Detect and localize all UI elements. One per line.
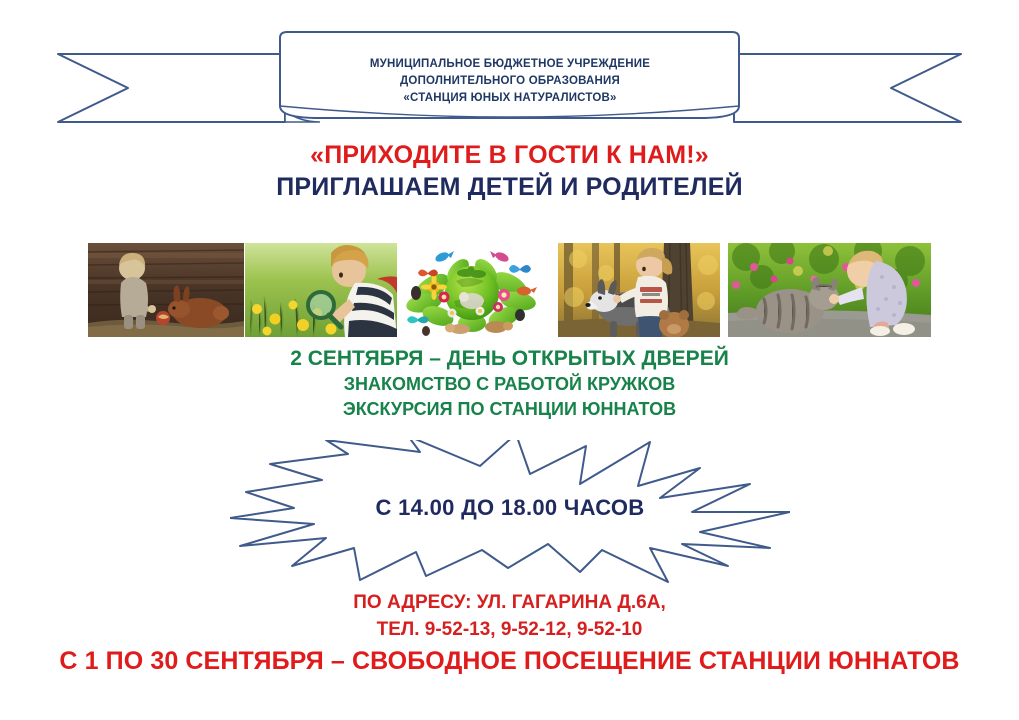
photo-girl-dog-art (558, 243, 720, 337)
photo-nature-collage (398, 243, 546, 337)
photo-child-cat-art (728, 243, 931, 337)
photo-girl-dog (558, 243, 720, 337)
headline-block: «ПРИХОДИТЕ В ГОСТИ К НАМ!» ПРИГЛАШАЕМ ДЕ… (0, 140, 1019, 203)
headline-invite-title: «ПРИХОДИТЕ В ГОСТИ К НАМ!» (0, 140, 1019, 171)
headline-invite-subtitle: ПРИГЛАШАЕМ ДЕТЕЙ И РОДИТЕЛЕЙ (0, 171, 1019, 203)
opening-hours-text: С 14.00 ДО 18.00 ЧАСОВ (230, 495, 790, 521)
address-line: ПО АДРЕСУ: УЛ. ГАГАРИНА Д.6А, (0, 590, 1019, 616)
clubs-intro-line: ЗНАКОМСТВО С РАБОТОЙ КРУЖКОВ (0, 372, 1019, 397)
photo-boy-magnifier-art (245, 243, 397, 337)
open-day-title: 2 СЕНТЯБРЯ – ДЕНЬ ОТКРЫТЫХ ДВЕРЕЙ (0, 345, 1019, 372)
banner-line-2: ДОПОЛНИТЕЛЬНОГО ОБРАЗОВАНИЯ (285, 73, 735, 90)
starburst-block: С 14.00 ДО 18.00 ЧАСОВ (230, 440, 790, 585)
photo-strip (88, 243, 931, 337)
organization-name: МУНИЦИПАЛЬНОЕ БЮДЖЕТНОЕ УЧРЕЖДЕНИЕ ДОПОЛ… (285, 56, 735, 107)
photo-child-rabbit-art (88, 243, 244, 337)
photo-child-rabbit (88, 243, 244, 337)
teddy-bear (659, 310, 689, 337)
ribbon-right-tail (734, 54, 961, 122)
photo-boy-magnifier (245, 243, 397, 337)
contact-block: ПО АДРЕСУ: УЛ. ГАГАРИНА Д.6А, ТЕЛ. 9-52-… (0, 590, 1019, 679)
photo-nature-collage-art (398, 243, 546, 337)
photo-child-cat (728, 243, 931, 337)
banner-line-1: МУНИЦИПАЛЬНОЕ БЮДЖЕТНОЕ УЧРЕЖДЕНИЕ (285, 56, 735, 73)
excursion-line: ЭКСКУРСИЯ ПО СТАНЦИИ ЮННАТОВ (0, 397, 1019, 422)
ribbon-left-tail (58, 54, 285, 122)
poster-canvas: МУНИЦИПАЛЬНОЕ БЮДЖЕТНОЕ УЧРЕЖДЕНИЕ ДОПОЛ… (0, 0, 1019, 720)
green-info-block: 2 СЕНТЯБРЯ – ДЕНЬ ОТКРЫТЫХ ДВЕРЕЙ ЗНАКОМ… (0, 345, 1019, 422)
phone-line: ТЕЛ. 9-52-13, 9-52-12, 9-52-10 (0, 616, 1019, 643)
ribbon-banner: МУНИЦИПАЛЬНОЕ БЮДЖЕТНОЕ УЧРЕЖДЕНИЕ ДОПОЛ… (0, 18, 1019, 136)
free-visit-line: С 1 ПО 30 СЕНТЯБРЯ – СВОБОДНОЕ ПОСЕЩЕНИЕ… (0, 643, 1019, 679)
banner-line-3: «СТАНЦИЯ ЮНЫХ НАТУРАЛИСТОВ» (285, 90, 735, 107)
